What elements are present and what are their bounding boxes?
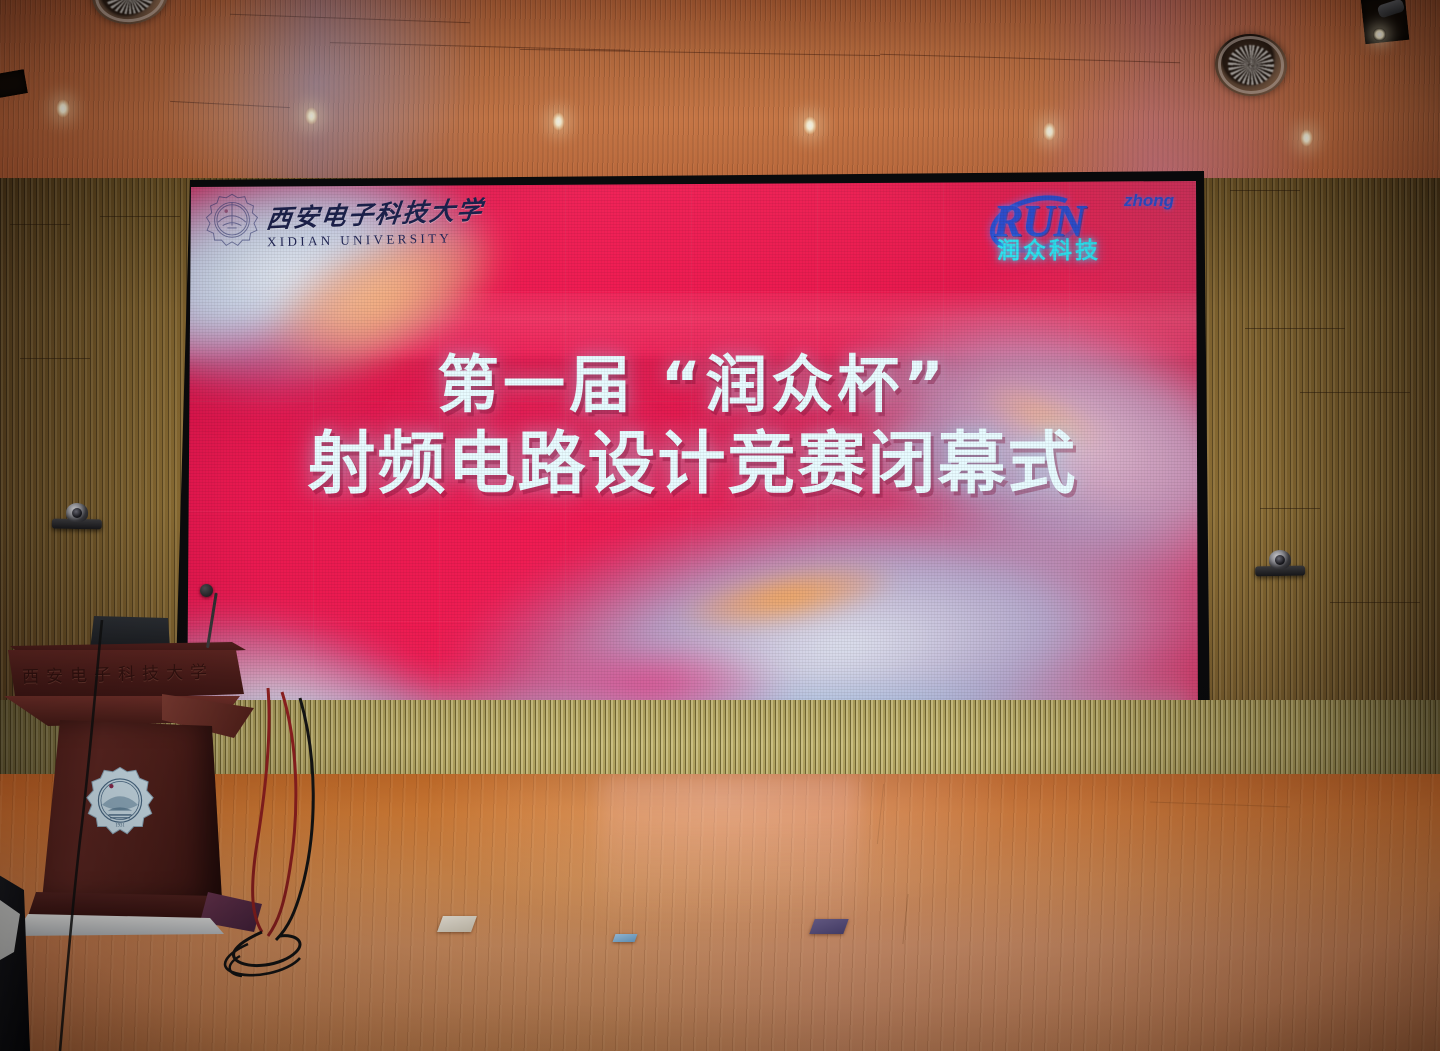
recessed-downlight-icon — [803, 116, 817, 135]
recessed-downlight-icon — [552, 112, 565, 131]
track-spotlight-icon — [1373, 28, 1386, 41]
ceiling-light-spill — [128, 0, 503, 192]
cable-icon — [20, 620, 160, 1051]
ptz-camera-icon — [1255, 550, 1305, 577]
floor-socket-icon[interactable] — [437, 916, 477, 932]
ptz-camera-icon — [52, 503, 102, 530]
recessed-downlight-icon — [305, 107, 318, 125]
floor-socket-icon[interactable] — [809, 919, 848, 934]
auditorium-stage-scene: 西安电子科技大学 XIDIAN UNIVERSITY RUN zhong 润众科… — [0, 0, 1440, 1051]
camera-lens — [1275, 555, 1285, 565]
gooseneck-microphone-icon — [200, 584, 213, 597]
ceiling — [0, 0, 1440, 192]
vent-ring — [1216, 34, 1286, 96]
floor-socket-icon[interactable] — [613, 934, 638, 942]
recessed-downlight-icon — [1300, 129, 1313, 147]
recessed-downlight-icon — [56, 99, 70, 118]
camera-lens — [72, 508, 82, 518]
recessed-downlight-icon — [1043, 122, 1056, 141]
floor-reflection — [600, 774, 860, 924]
